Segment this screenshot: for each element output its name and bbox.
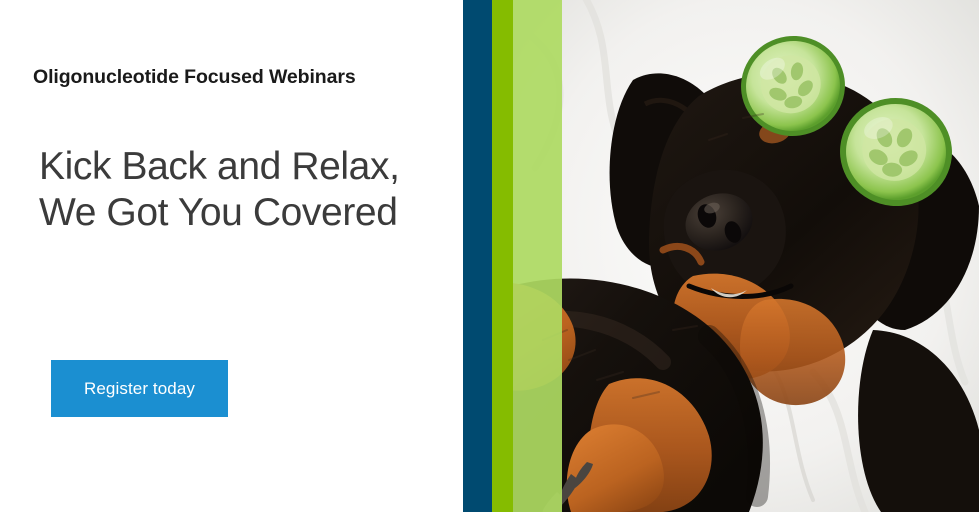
dog-spa-photo: [513, 0, 979, 512]
accent-band-light-green: [513, 0, 562, 512]
webinar-promo-banner: Oligonucleotide Focused Webinars Kick Ba…: [0, 0, 979, 512]
register-today-button[interactable]: Register today: [51, 360, 228, 417]
eyebrow-text: Oligonucleotide Focused Webinars: [33, 66, 453, 89]
accent-band-navy: [463, 0, 492, 512]
page-title: Kick Back and Relax, We Got You Covered: [39, 144, 459, 236]
accent-band-green: [492, 0, 513, 512]
text-panel: Oligonucleotide Focused Webinars Kick Ba…: [0, 0, 463, 512]
